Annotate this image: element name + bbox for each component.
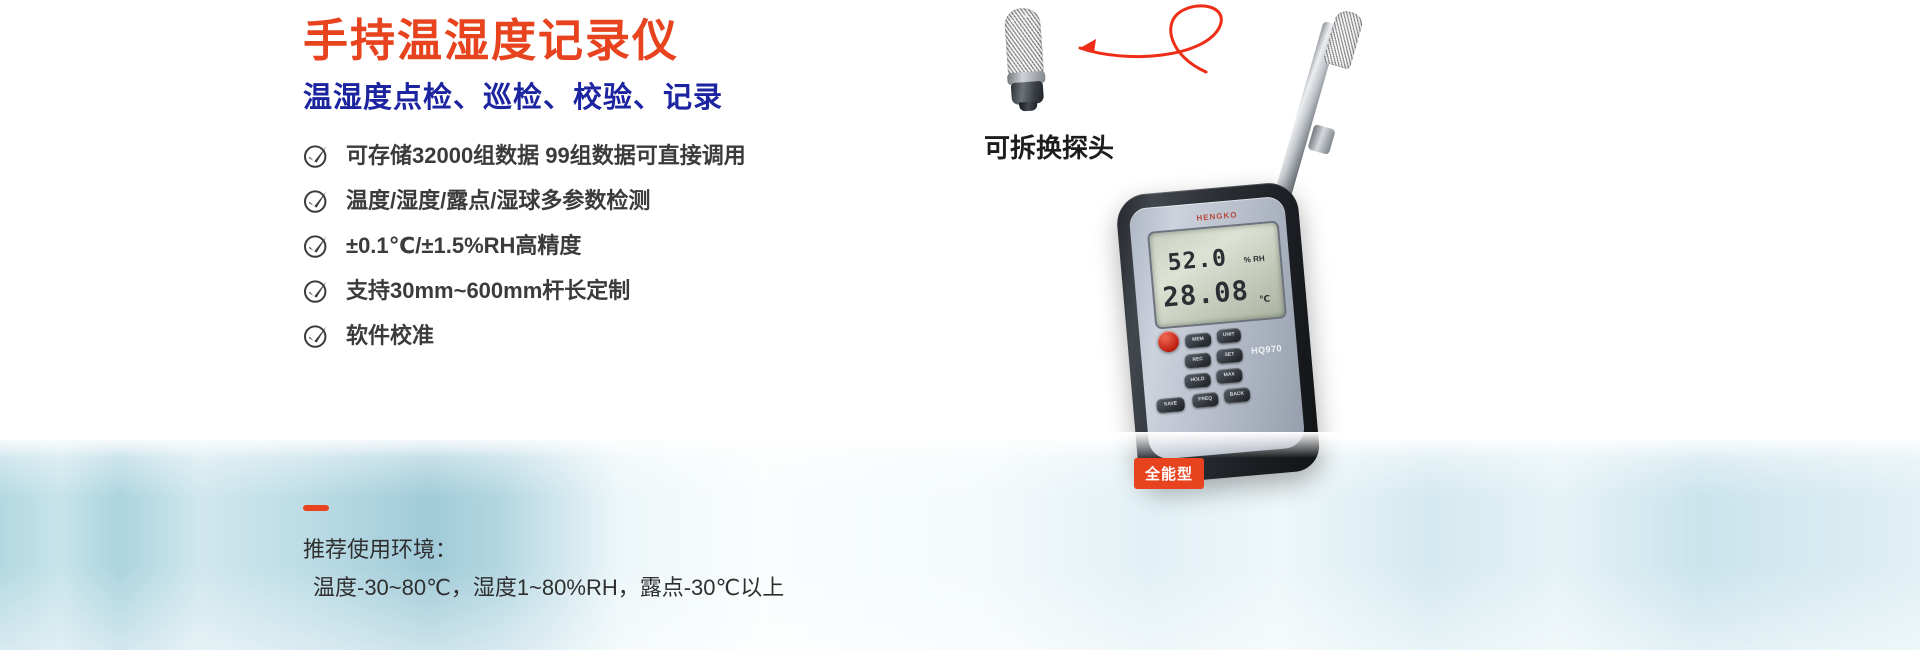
list-item: 温度/湿度/露点/湿球多参数检测 (303, 178, 1063, 223)
temperature-reading: 28.08 (1161, 275, 1250, 313)
key-max[interactable]: MAX (1216, 368, 1243, 384)
keypad: MEM UNIT REC SET HOLD MAX SAVE FREQ BACK (1136, 318, 1296, 451)
list-item: 软件校准 (303, 313, 1063, 358)
meter-probe-mesh (1323, 8, 1365, 70)
check-circle-icon (303, 188, 329, 214)
page-subtitle: 温湿度点检、巡检、校验、记录 (303, 80, 723, 116)
key-rec[interactable]: REC (1184, 352, 1211, 368)
key-set[interactable]: SET (1216, 348, 1243, 364)
key-unit[interactable]: UNIT (1216, 328, 1241, 344)
list-item-label: 可存储32000组数据 99组数据可直接调用 (346, 143, 746, 169)
key-freq[interactable]: FREQ (1192, 392, 1219, 408)
list-item: 支持30mm~600mm杆长定制 (303, 268, 1063, 313)
check-circle-icon (303, 323, 329, 349)
key-mem[interactable]: MEM (1185, 332, 1212, 348)
page-title: 手持温湿度记录仪 (303, 14, 679, 68)
key-back[interactable]: BACK (1223, 387, 1250, 403)
key-hold[interactable]: HOLD (1184, 372, 1211, 388)
list-item-label: 温度/湿度/露点/湿球多参数检测 (346, 188, 650, 214)
list-item: ±0.1℃/±1.5%RH高精度 (303, 223, 1063, 268)
list-item-label: 支持30mm~600mm杆长定制 (346, 278, 630, 304)
list-item-label: 软件校准 (346, 323, 434, 349)
check-circle-icon (303, 143, 329, 169)
humidity-unit: % RH (1243, 254, 1265, 265)
meter-probe-collar (1307, 124, 1335, 155)
check-circle-icon (303, 278, 329, 304)
list-item-label: ±0.1℃/±1.5%RH高精度 (346, 233, 581, 259)
environment-block: 推荐使用环境： 温度-30~80℃，湿度1~80%RH，露点-30℃以上 (303, 505, 1023, 607)
meter-device-image: HENGKO 52.0 % RH 28.08 ℃ MEM UNIT REC SE… (1075, 6, 1385, 486)
lcd-display: 52.0 % RH 28.08 ℃ (1149, 223, 1285, 328)
product-banner: 手持温湿度记录仪 温湿度点检、巡检、校验、记录 可存储32000组数据 99组数… (0, 0, 1920, 650)
key-save[interactable]: SAVE (1156, 397, 1185, 413)
environment-heading: 推荐使用环境： (303, 531, 1023, 569)
feature-list: 可存储32000组数据 99组数据可直接调用 温度/湿度/露点/湿球多参数检测 … (303, 133, 1063, 358)
environment-detail: 温度-30~80℃，湿度1~80%RH，露点-30℃以上 (303, 569, 1023, 607)
background-fade (0, 432, 1920, 458)
humidity-reading: 52.0 (1167, 245, 1228, 276)
status-badge: 全能型 (1134, 458, 1204, 489)
temperature-unit: ℃ (1259, 293, 1271, 305)
check-circle-icon (303, 233, 329, 259)
accent-dash (303, 505, 329, 511)
list-item: 可存储32000组数据 99组数据可直接调用 (303, 133, 1063, 178)
